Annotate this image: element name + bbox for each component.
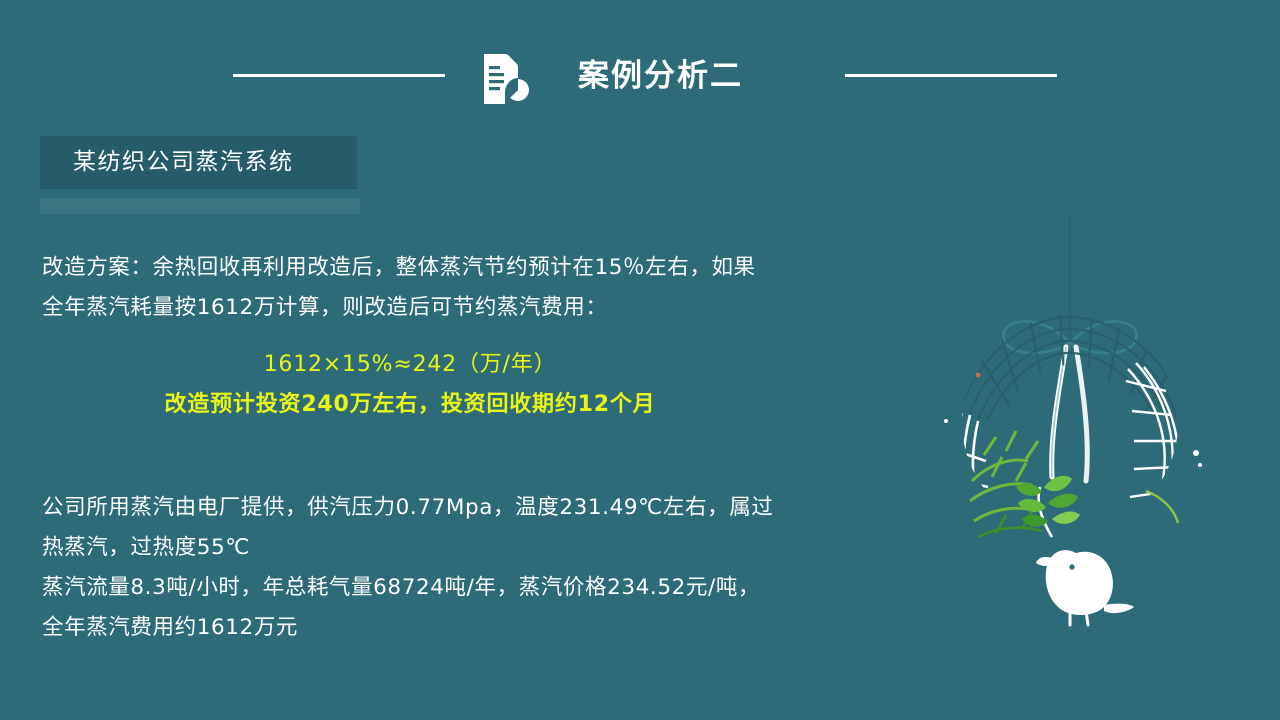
- subtitle-plate: 某纺织公司蒸汽系统: [40, 136, 357, 188]
- bird-leaf-sprig: [1016, 476, 1080, 537]
- subtitle-label: 某纺织公司蒸汽系统: [73, 136, 357, 188]
- formula-savings: 1612×15%≈242（万/年）: [0, 345, 840, 385]
- hanging-bow-icon: [1003, 321, 1136, 353]
- subtitle-underbar: [40, 198, 360, 214]
- specs-paragraph-line-2: 热蒸汽，过热度55℃: [42, 528, 773, 568]
- specs-paragraph-line-3: 蒸汽流量8.3吨/小时，年总耗气量68724吨/年，蒸汽价格234.52元/吨，: [42, 568, 773, 608]
- specs-paragraph-line-1: 公司所用蒸汽由电厂提供，供汽压力0.77Mpa，温度231.49℃左右，属过: [42, 488, 773, 528]
- wreath-illustration: [900, 215, 1240, 665]
- specs-paragraph-line-4: 全年蒸汽费用约1612万元: [42, 608, 773, 648]
- slide-canvas: 案例分析二 某纺织公司蒸汽系统 改造方案：余热回收再利用改造后，整体蒸汽节约预计…: [0, 0, 1280, 720]
- slide-header: 案例分析二: [0, 48, 1280, 104]
- header-rule-left: [233, 74, 445, 77]
- specs-paragraph: 公司所用蒸汽由电厂提供，供汽压力0.77Mpa，温度231.49℃左右，属过 热…: [42, 488, 773, 648]
- page-title: 案例分析二: [578, 48, 808, 104]
- leaf-branch-icon: [970, 431, 1038, 521]
- plan-paragraph-line-2: 全年蒸汽耗量按1612万计算，则改造后可节约蒸汽费用：: [42, 288, 756, 328]
- document-chart-icon: [478, 52, 534, 104]
- white-bird-icon: [1036, 550, 1134, 625]
- plan-paragraph-line-1: 改造方案：余热回收再利用改造后，整体蒸汽节约预计在15％左右，如果: [42, 248, 756, 288]
- formula-payback: 改造预计投资240万左右，投资回收期约12个月: [0, 385, 840, 425]
- plan-paragraph: 改造方案：余热回收再利用改造后，整体蒸汽节约预计在15％左右，如果 全年蒸汽耗量…: [42, 248, 756, 328]
- header-rule-right: [845, 74, 1057, 77]
